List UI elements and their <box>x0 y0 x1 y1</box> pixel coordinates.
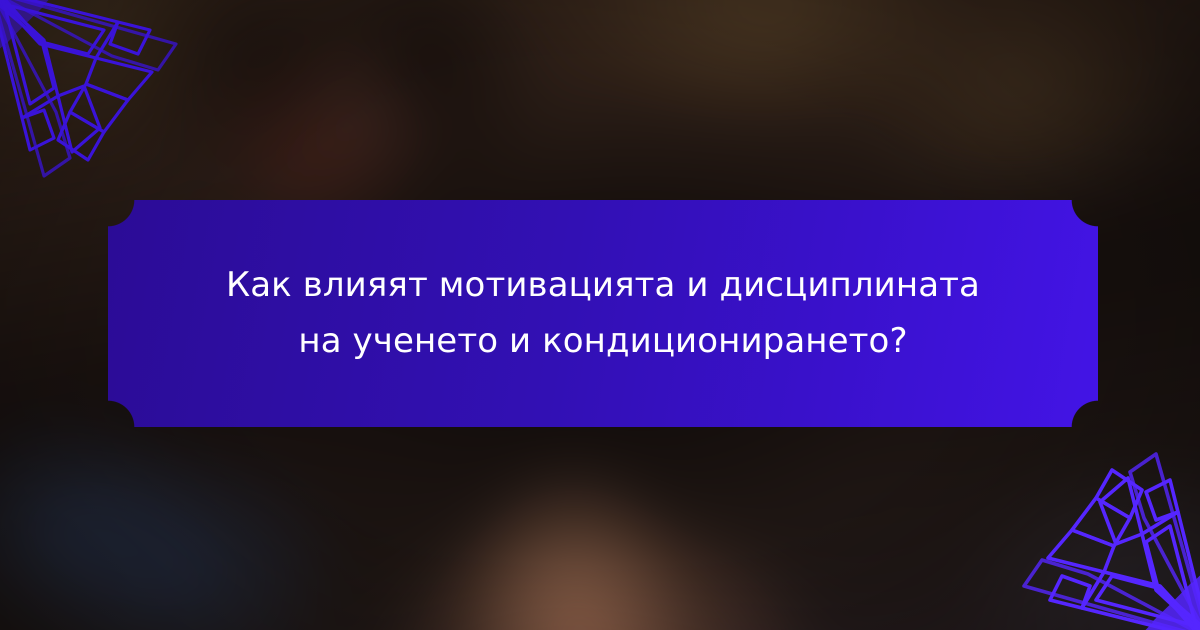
question-card-stage: Как влияят мотивацията и дисциплината на… <box>0 0 1200 630</box>
question-title: Как влияят мотивацията и дисциплината на… <box>204 258 1002 368</box>
question-card: Как влияят мотивацията и дисциплината на… <box>108 200 1098 427</box>
